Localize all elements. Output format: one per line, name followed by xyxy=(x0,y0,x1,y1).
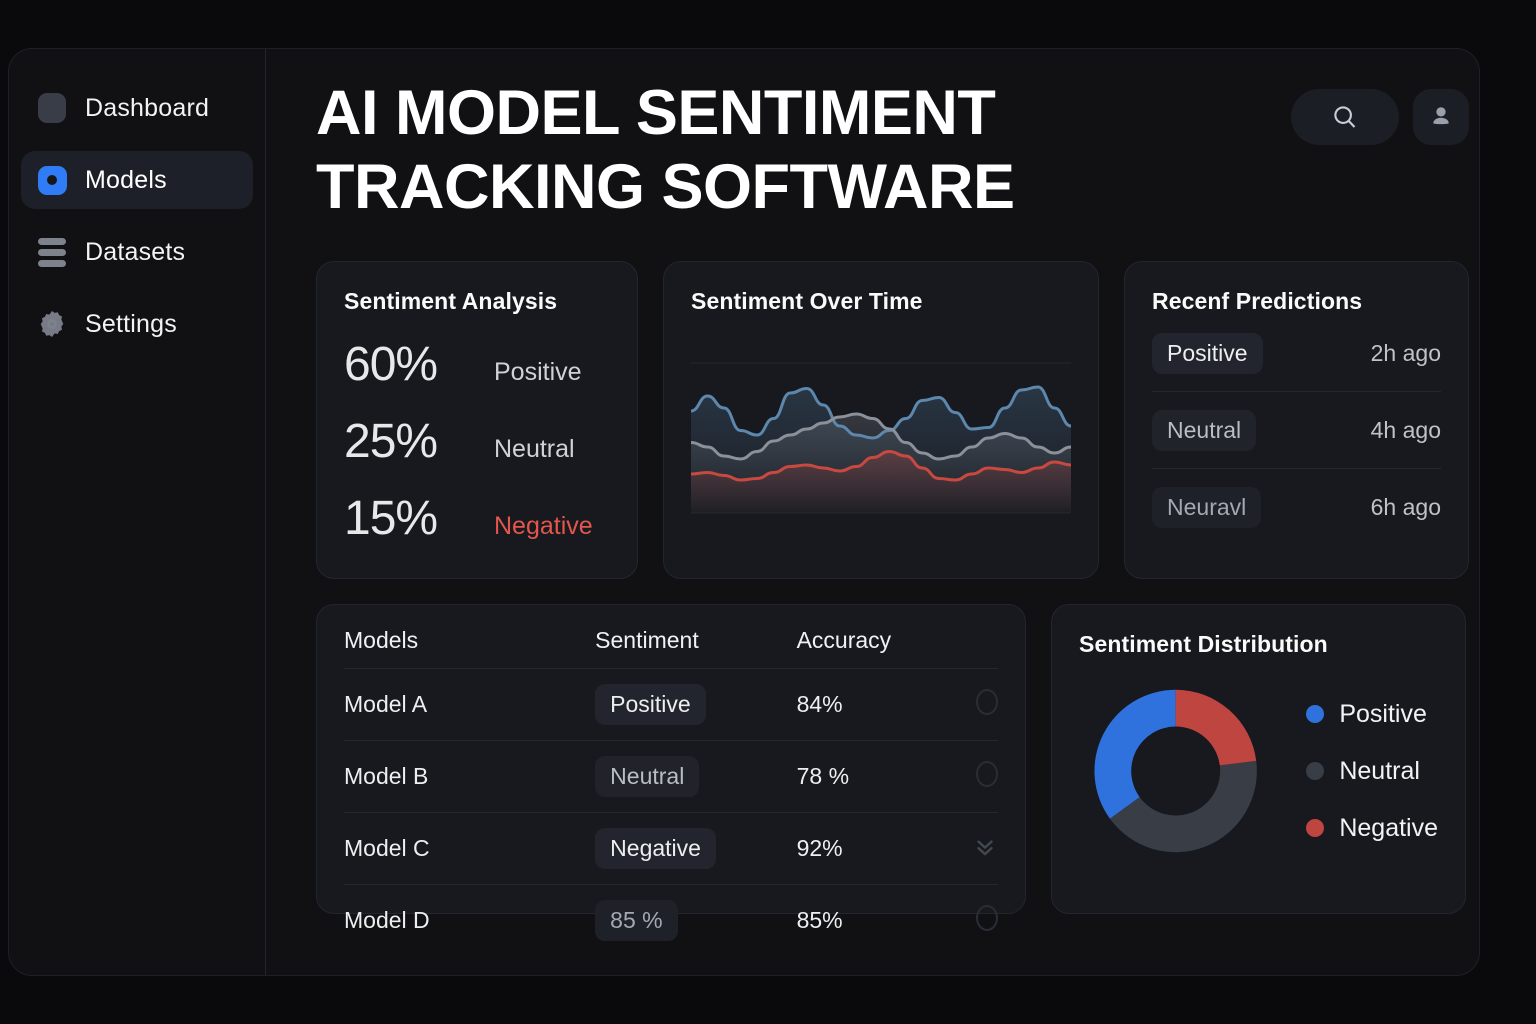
sentiment-stat-row: 15% Negative xyxy=(344,491,610,546)
circle-icon xyxy=(976,689,998,715)
sentiment-label: Negative xyxy=(494,512,593,541)
cell-sentiment: Positive xyxy=(595,669,796,741)
top-actions xyxy=(1291,89,1469,145)
sentiment-analysis-card: Sentiment Analysis 60% Positive 25% Neut… xyxy=(316,261,638,579)
sentiment-distribution-card: Sentiment Distribution Positive Neutral xyxy=(1051,604,1466,914)
cards-row-top: Sentiment Analysis 60% Positive 25% Neut… xyxy=(316,261,1469,579)
sentiment-line-chart xyxy=(691,345,1071,530)
sidebar: Dashboard Models Datasets Settings xyxy=(9,49,266,975)
sentiment-over-time-card: Sentiment Over Time xyxy=(663,261,1099,579)
settings-icon xyxy=(37,309,67,339)
sentiment-label: Positive xyxy=(494,358,582,387)
legend-label: Positive xyxy=(1339,700,1427,729)
prediction-badge: Neuravl xyxy=(1152,487,1261,528)
recent-predictions-card: Recenf Predictions Positive 2h ago Neutr… xyxy=(1124,261,1469,579)
cell-sentiment: Negative xyxy=(595,813,796,885)
cell-sentiment: 85 % xyxy=(595,885,796,957)
datasets-icon xyxy=(37,237,67,267)
dashboard-icon xyxy=(37,93,67,123)
sentiment-label: Neutral xyxy=(494,435,575,464)
sentiment-stat-row: 25% Neutral xyxy=(344,414,610,469)
prediction-time: 2h ago xyxy=(1371,340,1441,367)
legend-dot-icon xyxy=(1306,819,1324,837)
prediction-time: 6h ago xyxy=(1371,494,1441,521)
cell-sentiment: Neutral xyxy=(595,741,796,813)
cell-accuracy: 92% xyxy=(797,813,942,885)
models-table-card: Models Sentiment Accuracy Model A Positi… xyxy=(316,604,1026,914)
card-title: Sentiment Analysis xyxy=(344,288,610,315)
cell-action[interactable] xyxy=(941,813,998,885)
main-content: AI MODEL SENTIMENT TRACKING SOFTWARE xyxy=(266,49,1480,975)
top-bar: AI MODEL SENTIMENT TRACKING SOFTWARE xyxy=(316,77,1469,224)
donut-chart xyxy=(1079,672,1272,870)
sentiment-badge: 85 % xyxy=(595,900,677,941)
column-header-actions xyxy=(941,627,998,669)
cell-accuracy: 78 % xyxy=(797,741,942,813)
app-window: Dashboard Models Datasets Settings AI xyxy=(8,48,1480,976)
table-header-row: Models Sentiment Accuracy xyxy=(344,627,998,669)
column-header-accuracy[interactable]: Accuracy xyxy=(797,627,942,669)
legend-label: Neutral xyxy=(1339,757,1420,786)
legend-item-positive: Positive xyxy=(1306,700,1438,729)
sidebar-item-label: Dashboard xyxy=(85,94,209,123)
sentiment-stat-row: 60% Positive xyxy=(344,337,610,392)
models-icon xyxy=(37,165,67,195)
column-header-sentiment[interactable]: Sentiment xyxy=(595,627,796,669)
search-button[interactable] xyxy=(1291,89,1399,145)
page-title: AI MODEL SENTIMENT TRACKING SOFTWARE xyxy=(316,77,1096,224)
sentiment-percent: 25% xyxy=(344,414,470,469)
cards-row-bottom: Models Sentiment Accuracy Model A Positi… xyxy=(316,604,1469,914)
models-table: Models Sentiment Accuracy Model A Positi… xyxy=(344,627,998,956)
profile-button[interactable] xyxy=(1413,89,1469,145)
cell-action[interactable] xyxy=(941,885,998,957)
search-icon xyxy=(1330,102,1360,132)
cell-model: Model C xyxy=(344,813,595,885)
prediction-badge: Positive xyxy=(1152,333,1263,374)
sidebar-item-label: Models xyxy=(85,166,167,195)
double-chevron-down-icon xyxy=(972,833,998,859)
prediction-time: 4h ago xyxy=(1371,417,1441,444)
sidebar-item-dashboard[interactable]: Dashboard xyxy=(21,79,253,137)
sentiment-badge: Neutral xyxy=(595,756,699,797)
legend-label: Negative xyxy=(1339,814,1438,843)
sidebar-item-datasets[interactable]: Datasets xyxy=(21,223,253,281)
table-row[interactable]: Model C Negative 92% xyxy=(344,813,998,885)
table-row[interactable]: Model B Neutral 78 % xyxy=(344,741,998,813)
distribution-body: Positive Neutral Negative xyxy=(1079,672,1438,870)
card-title: Sentiment Distribution xyxy=(1079,631,1438,658)
cell-model: Model A xyxy=(344,669,595,741)
cell-action[interactable] xyxy=(941,669,998,741)
card-title: Recenf Predictions xyxy=(1152,288,1441,315)
card-title: Sentiment Over Time xyxy=(691,288,1071,315)
circle-icon xyxy=(976,761,998,787)
cell-action[interactable] xyxy=(941,741,998,813)
sentiment-badge: Positive xyxy=(595,684,706,725)
chart-legend: Positive Neutral Negative xyxy=(1306,700,1438,843)
legend-item-negative: Negative xyxy=(1306,814,1438,843)
circle-icon xyxy=(976,905,998,931)
prediction-row[interactable]: Positive 2h ago xyxy=(1152,315,1441,392)
sidebar-item-label: Settings xyxy=(85,310,177,339)
cell-model: Model D xyxy=(344,885,595,957)
sentiment-percent: 15% xyxy=(344,491,470,546)
table-row[interactable]: Model D 85 % 85% xyxy=(344,885,998,957)
legend-dot-icon xyxy=(1306,705,1324,723)
column-header-models[interactable]: Models xyxy=(344,627,595,669)
prediction-row[interactable]: Neuravl 6h ago xyxy=(1152,469,1441,546)
sidebar-item-models[interactable]: Models xyxy=(21,151,253,209)
legend-item-neutral: Neutral xyxy=(1306,757,1438,786)
sidebar-item-label: Datasets xyxy=(85,238,185,267)
cell-accuracy: 84% xyxy=(797,669,942,741)
table-row[interactable]: Model A Positive 84% xyxy=(344,669,998,741)
sidebar-item-settings[interactable]: Settings xyxy=(21,295,253,353)
cell-accuracy: 85% xyxy=(797,885,942,957)
legend-dot-icon xyxy=(1306,762,1324,780)
sentiment-badge: Negative xyxy=(595,828,716,869)
sentiment-percent: 60% xyxy=(344,337,470,392)
prediction-row[interactable]: Neutral 4h ago xyxy=(1152,392,1441,469)
user-avatar-icon xyxy=(1427,103,1455,131)
prediction-badge: Neutral xyxy=(1152,410,1256,451)
cell-model: Model B xyxy=(344,741,595,813)
